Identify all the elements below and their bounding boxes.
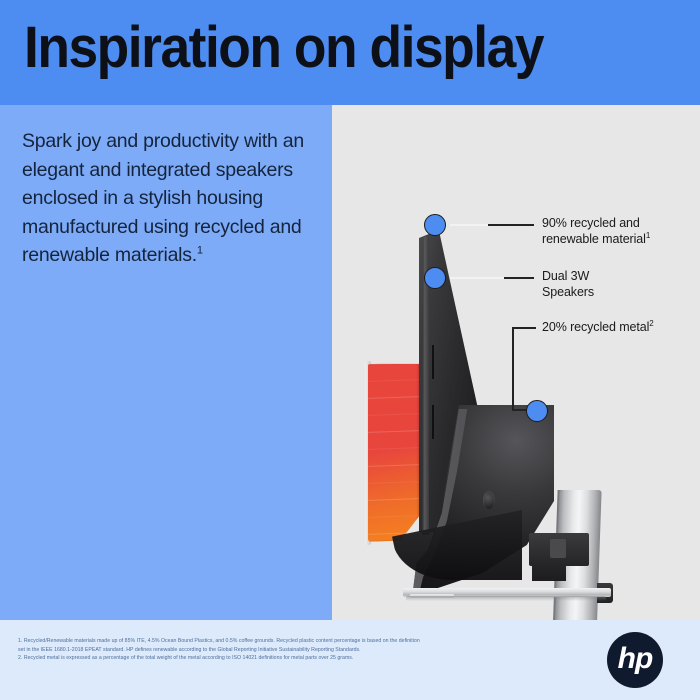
callout-text-1: 90% recycled and renewable material bbox=[542, 216, 646, 246]
callout-marker-1: 1 bbox=[646, 230, 650, 239]
callout-leader-line-2 bbox=[504, 277, 534, 279]
screen-display-content bbox=[368, 362, 420, 542]
callout-leader-line-3-horizontal bbox=[512, 327, 536, 329]
callout-label-recycled-metal: 20% recycled metal2 bbox=[542, 320, 692, 336]
callout-leader-line-3-vertical bbox=[512, 327, 514, 411]
shell-seam-lower bbox=[432, 405, 434, 439]
page-title: Inspiration on display bbox=[24, 16, 631, 80]
callout-leader-line-1 bbox=[488, 224, 534, 226]
body-copy-text: Spark joy and productivity with an elega… bbox=[22, 130, 304, 266]
body-copy-footnote-marker: 1 bbox=[197, 245, 203, 257]
product-panel bbox=[332, 105, 700, 620]
footnote-line-2: set in the IEEE 1680.1-2018 EPEAT standa… bbox=[18, 646, 578, 655]
callout-dot-dual-3w-speakers[interactable] bbox=[424, 267, 446, 289]
callout-label-dual-3w-speakers: Dual 3W Speakers bbox=[542, 269, 672, 300]
callout-leader-line-2-light bbox=[450, 277, 506, 279]
callout-text-3: 20% recycled metal bbox=[542, 320, 649, 334]
callout-text-2: Dual 3W Speakers bbox=[542, 269, 594, 299]
monitor-illustration bbox=[332, 105, 700, 620]
stand-arm-notch bbox=[550, 539, 566, 558]
stand-base-shadow bbox=[406, 596, 606, 601]
copy-panel: Spark joy and productivity with an elega… bbox=[0, 105, 332, 620]
hp-monitor-marketing-slide: Inspiration on display Spark joy and pro… bbox=[0, 0, 700, 700]
hp-logo-icon: hp bbox=[607, 632, 663, 688]
hp-logo-text: hp bbox=[607, 632, 663, 688]
footnotes: 1. Recycled/Renewable materials made up … bbox=[18, 637, 578, 663]
callout-dot-recycled-metal[interactable] bbox=[526, 400, 548, 422]
footer-band: 1. Recycled/Renewable materials made up … bbox=[0, 620, 700, 700]
footnote-line-3: 2. Recycled metal is expressed as a perc… bbox=[18, 654, 578, 663]
callout-leader-line-1-light bbox=[450, 224, 490, 226]
callout-dot-recycled-renewable-material[interactable] bbox=[424, 214, 446, 236]
body-copy: Spark joy and productivity with an elega… bbox=[22, 127, 310, 270]
shell-seam-upper bbox=[432, 345, 434, 379]
callout-label-recycled-renewable-material: 90% recycled and renewable material1 bbox=[542, 216, 672, 247]
hp-embossed-logo-icon bbox=[483, 491, 495, 510]
footnote-line-1: 1. Recycled/Renewable materials made up … bbox=[18, 637, 578, 646]
callout-marker-3: 2 bbox=[649, 319, 653, 328]
header-band: Inspiration on display bbox=[0, 0, 700, 105]
